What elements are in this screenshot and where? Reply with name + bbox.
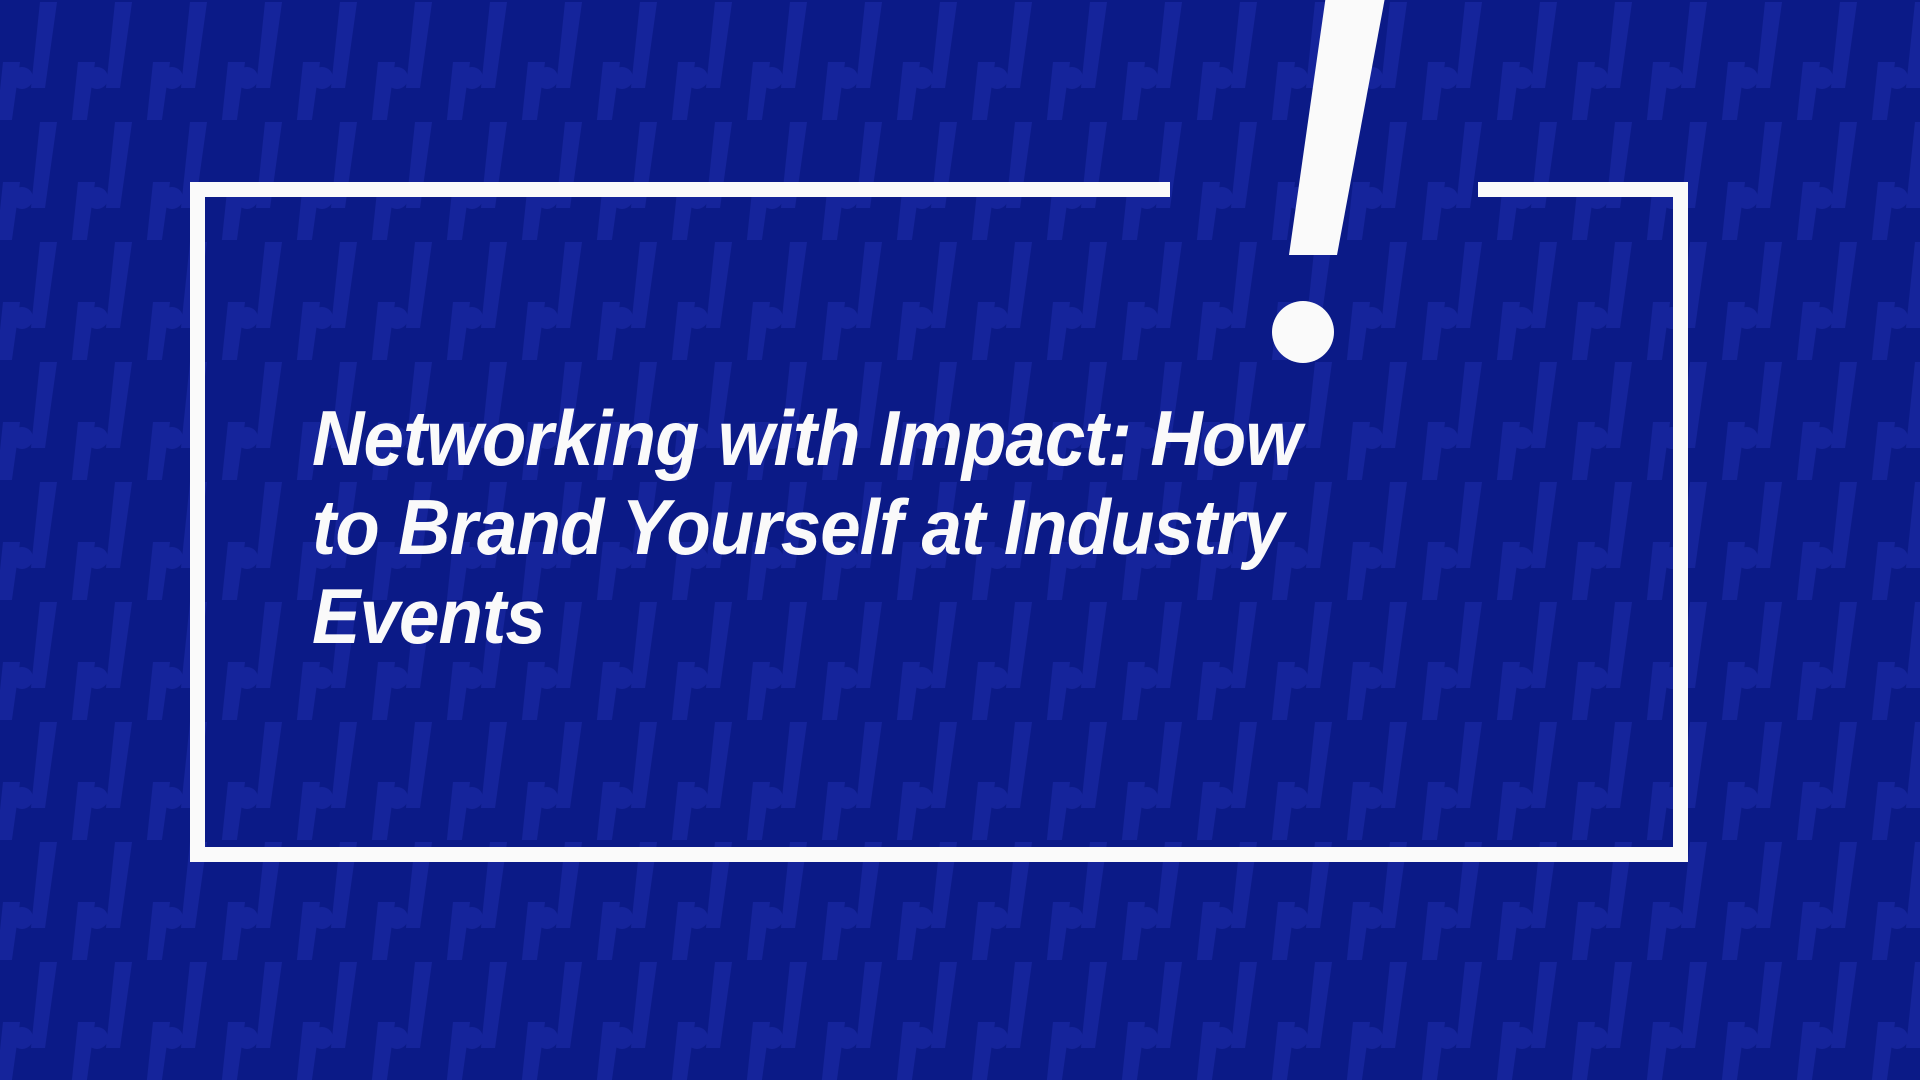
title-block: Networking with Impact: How to Brand You… (312, 394, 1422, 661)
page-title: Networking with Impact: How to Brand You… (312, 394, 1344, 661)
frame-left-edge (190, 182, 205, 862)
frame-bottom-edge (190, 847, 1688, 862)
presentation-slide: Networking with Impact: How to Brand You… (0, 0, 1920, 1080)
frame-right-edge (1673, 182, 1688, 862)
frame-top-right-segment (1478, 182, 1688, 197)
frame-top-left-segment (190, 182, 1170, 197)
